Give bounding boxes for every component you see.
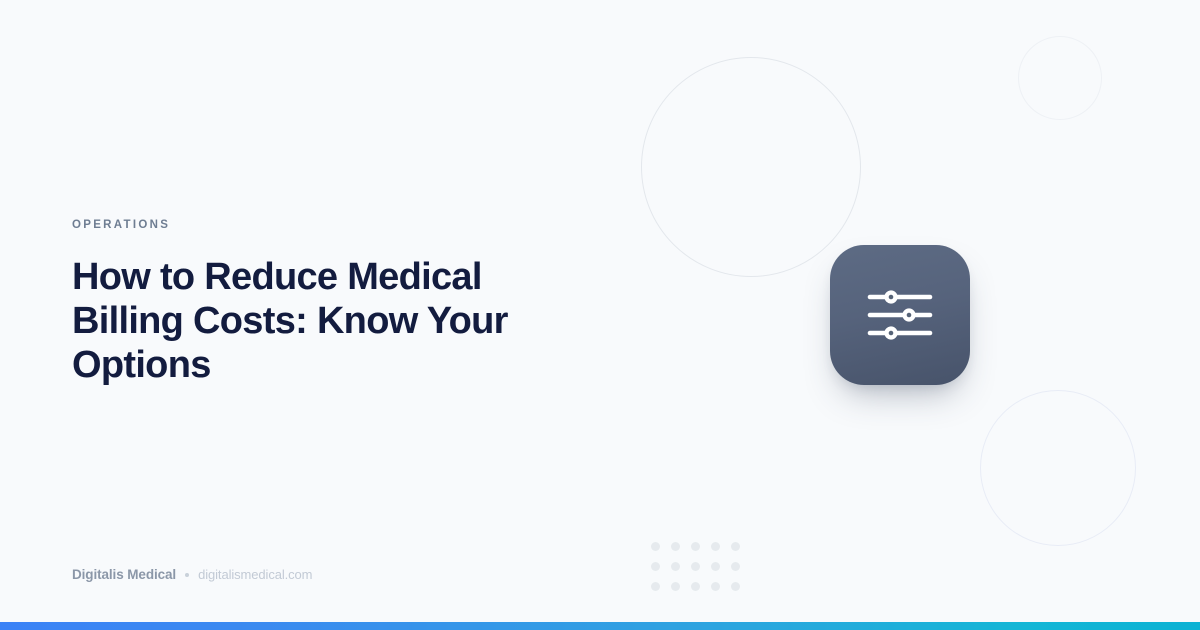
- decorative-ring-small-top-right: [1018, 36, 1102, 120]
- grid-dot: [671, 582, 680, 591]
- brand-url: digitalismedical.com: [198, 568, 312, 581]
- dot-grid-cell: [685, 576, 705, 596]
- page-title: How to Reduce Medical Billing Costs: Kno…: [72, 255, 542, 387]
- grid-dot: [711, 582, 720, 591]
- social-card-canvas: OPERATIONS How to Reduce Medical Billing…: [0, 0, 1200, 630]
- decorative-ring-medium-bottom-right: [980, 390, 1136, 546]
- grid-dot: [691, 542, 700, 551]
- grid-dot: [731, 562, 740, 571]
- dot-grid-cell: [685, 556, 705, 576]
- dot-grid-cell: [725, 556, 745, 576]
- dot-grid-cell: [645, 556, 665, 576]
- dot-grid-cell: [645, 536, 665, 556]
- bullet-separator-icon: [185, 573, 189, 577]
- decorative-dot-grid: [645, 536, 745, 596]
- grid-dot: [671, 562, 680, 571]
- dot-grid-cell: [705, 576, 725, 596]
- dot-grid-cell: [705, 536, 725, 556]
- grid-dot: [711, 542, 720, 551]
- feature-icon-tile: [830, 245, 970, 385]
- grid-dot: [731, 542, 740, 551]
- grid-dot: [651, 582, 660, 591]
- grid-dot: [651, 562, 660, 571]
- category-eyebrow: OPERATIONS: [72, 220, 170, 232]
- bottom-accent-bar: [0, 622, 1200, 630]
- sliders-settings-icon: [864, 284, 936, 346]
- decorative-ring-large: [641, 57, 861, 277]
- brand-name: Digitalis Medical: [72, 568, 176, 582]
- grid-dot: [731, 582, 740, 591]
- dot-grid-cell: [725, 536, 745, 556]
- dot-grid-cell: [685, 536, 705, 556]
- dot-grid-cell: [665, 576, 685, 596]
- dot-grid-cell: [705, 556, 725, 576]
- grid-dot: [691, 562, 700, 571]
- card-content: OPERATIONS How to Reduce Medical Billing…: [72, 0, 592, 630]
- dot-grid-cell: [665, 536, 685, 556]
- dot-grid-cell: [665, 556, 685, 576]
- dot-grid-cell: [645, 576, 665, 596]
- dot-grid-cell: [725, 576, 745, 596]
- grid-dot: [691, 582, 700, 591]
- grid-dot: [711, 562, 720, 571]
- grid-dot: [671, 542, 680, 551]
- grid-dot: [651, 542, 660, 551]
- brand-footer: Digitalis Medical digitalismedical.com: [72, 568, 312, 582]
